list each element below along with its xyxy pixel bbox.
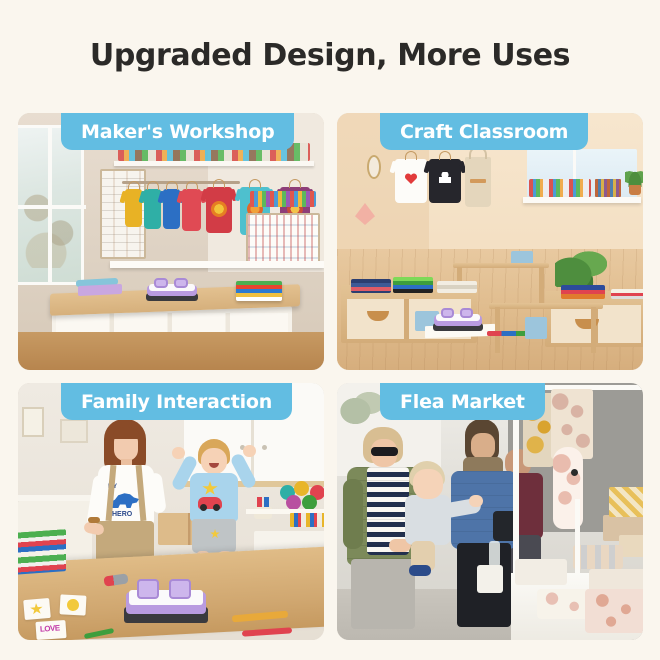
plant-leaves [625, 165, 643, 187]
fist-right [243, 445, 256, 457]
smiley-icon [67, 599, 80, 612]
scene-card-grid: Maker's Workshop [18, 113, 642, 640]
heart-graphic [405, 173, 417, 184]
thread-spools [250, 191, 316, 207]
folded-fabric-stack [393, 277, 433, 293]
dinosaur-icon [111, 492, 139, 508]
heat-press-machine [433, 309, 483, 331]
hanger-icon [166, 181, 178, 190]
hanger-icon [128, 181, 140, 190]
tshirt-graphic [439, 172, 451, 188]
page-title: Upgraded Design, More Uses [0, 38, 660, 73]
table-leg [591, 307, 596, 353]
heat-press-machine [124, 581, 208, 623]
yarn-ball [286, 495, 301, 510]
shirt-text-hero: HERO [112, 511, 132, 518]
press-handle-left [137, 579, 159, 598]
scissors-cup [254, 497, 272, 519]
stall-goods [585, 589, 643, 633]
tshirt-graphic [211, 201, 227, 217]
sticker-text: LOVE [40, 623, 60, 633]
photo-makers-workshop [18, 113, 324, 370]
table-leg [495, 307, 500, 353]
wood-floor [18, 332, 324, 370]
patterned-cloth [609, 487, 643, 517]
window-books [595, 179, 621, 197]
sunglasses-icon [371, 447, 398, 456]
hanging-tshirt [206, 187, 232, 233]
fist-left [172, 447, 185, 459]
press-handle-right [174, 278, 188, 288]
window-sill [523, 197, 641, 203]
hanger-icon [249, 179, 261, 188]
press-handle-left [441, 308, 454, 318]
hanging-tshirt-black [429, 159, 461, 203]
folded-fabric-stack [611, 289, 643, 299]
folded-fabric-stack [236, 281, 282, 301]
yarn-balls [280, 481, 324, 509]
press-handle-left [154, 278, 168, 288]
arm-left [343, 479, 363, 549]
wall-shelf-upper [114, 161, 314, 166]
sticker-card [23, 598, 51, 620]
water-bottle [489, 541, 500, 567]
card-flea-market[interactable]: Flea Market [337, 383, 643, 640]
front-table-top [489, 303, 603, 309]
face [471, 433, 495, 459]
stall-goods [573, 545, 623, 569]
cabinet-knob [262, 445, 267, 450]
face [413, 469, 443, 499]
sticker-card: LOVE [35, 620, 66, 640]
folded-fabric-stack [561, 285, 605, 299]
card-makers-workshop[interactable]: Maker's Workshop [18, 113, 324, 370]
folded-paper-stack [437, 281, 477, 293]
hanger-icon [289, 179, 301, 188]
yarn-ball [302, 495, 317, 510]
folded-fabric-stack [18, 529, 66, 575]
face [201, 448, 227, 474]
star-icon [30, 602, 44, 615]
baby-figure [399, 461, 481, 575]
yarn-ball [294, 481, 309, 496]
photo-flea-market [337, 383, 643, 640]
baby-hand [469, 495, 483, 507]
wall-mirror [367, 155, 381, 179]
hanging-tshirt-heart [395, 159, 427, 203]
framed-picture [60, 419, 88, 443]
card-badge-flea-market: Flea Market [380, 383, 545, 420]
counter-ledge [110, 261, 324, 268]
potted-plant-window [625, 165, 643, 195]
card-badge-makers-workshop: Maker's Workshop [61, 113, 294, 150]
hanger-icon [147, 181, 159, 190]
press-handle-right [460, 308, 473, 318]
plant-pot [629, 185, 641, 195]
card-family-interaction[interactable]: MY HERO [18, 383, 324, 640]
photo-craft-classroom [337, 113, 643, 370]
back-table-top [453, 263, 549, 268]
hanger-icon [405, 151, 417, 160]
hanger-icon [186, 181, 198, 190]
bracelet [88, 517, 100, 523]
toy-eye [571, 469, 578, 476]
hanger-icon [213, 179, 225, 188]
car-icon [198, 497, 222, 509]
tote-label [470, 179, 486, 183]
stall-goods [515, 559, 567, 585]
canvas-tote-bag [465, 157, 491, 207]
press-handle-right [169, 579, 191, 598]
card-badge-craft-classroom: Craft Classroom [380, 113, 588, 150]
classroom-chair [525, 317, 547, 339]
photo-family-interaction: MY HERO [18, 383, 324, 640]
window-supplies [529, 179, 591, 197]
hanging-tshirt [182, 189, 201, 231]
framed-picture [22, 407, 44, 437]
promo-page: Upgraded Design, More Uses [0, 0, 660, 660]
shelf-books [290, 513, 324, 527]
fern-plant [555, 245, 607, 287]
sticker-card [59, 594, 86, 615]
heat-press-machine [146, 279, 198, 301]
window-mullion-horizontal [18, 205, 86, 209]
card-badge-family-interaction: Family Interaction [61, 383, 292, 420]
hanger-icon [439, 151, 451, 160]
card-craft-classroom[interactable]: Craft Classroom [337, 113, 643, 370]
baby-shoe [409, 565, 431, 576]
tool-pegboard [246, 213, 320, 265]
background-foliage [337, 387, 383, 427]
table-leg [539, 267, 544, 305]
folded-fabric-stack [351, 279, 391, 293]
